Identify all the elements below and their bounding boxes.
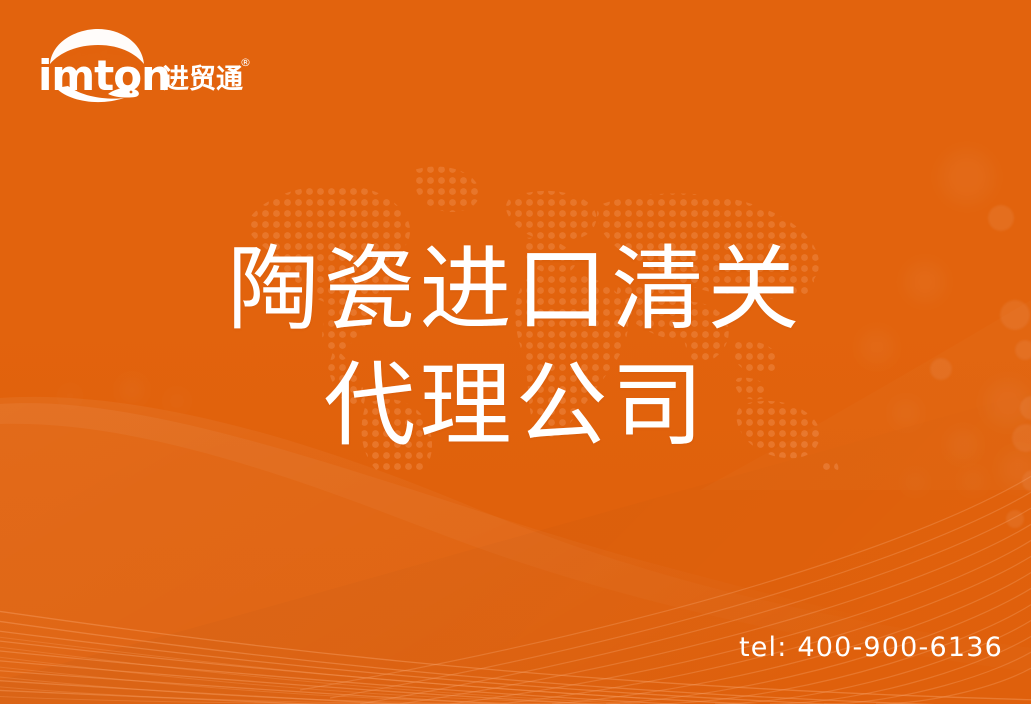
page-title: 陶瓷进口清关 代理公司: [0, 232, 1031, 464]
logo-chinese-name: 进贸通: [162, 64, 243, 95]
logo-wordmark: imton: [38, 51, 170, 100]
headline-line-2: 代理公司: [0, 348, 1031, 464]
contact-telephone[interactable]: tel: 400-900-6136: [739, 632, 1003, 663]
poster-canvas: imton 进贸通 ® imton 进贸通 陶瓷进口清关 代理公司 tel: 4…: [0, 0, 1031, 704]
trademark-icon: ®: [240, 56, 251, 69]
brand-logo[interactable]: imton 进贸通 ® imton 进贸通: [36, 26, 251, 104]
headline-line-1: 陶瓷进口清关: [0, 232, 1031, 348]
